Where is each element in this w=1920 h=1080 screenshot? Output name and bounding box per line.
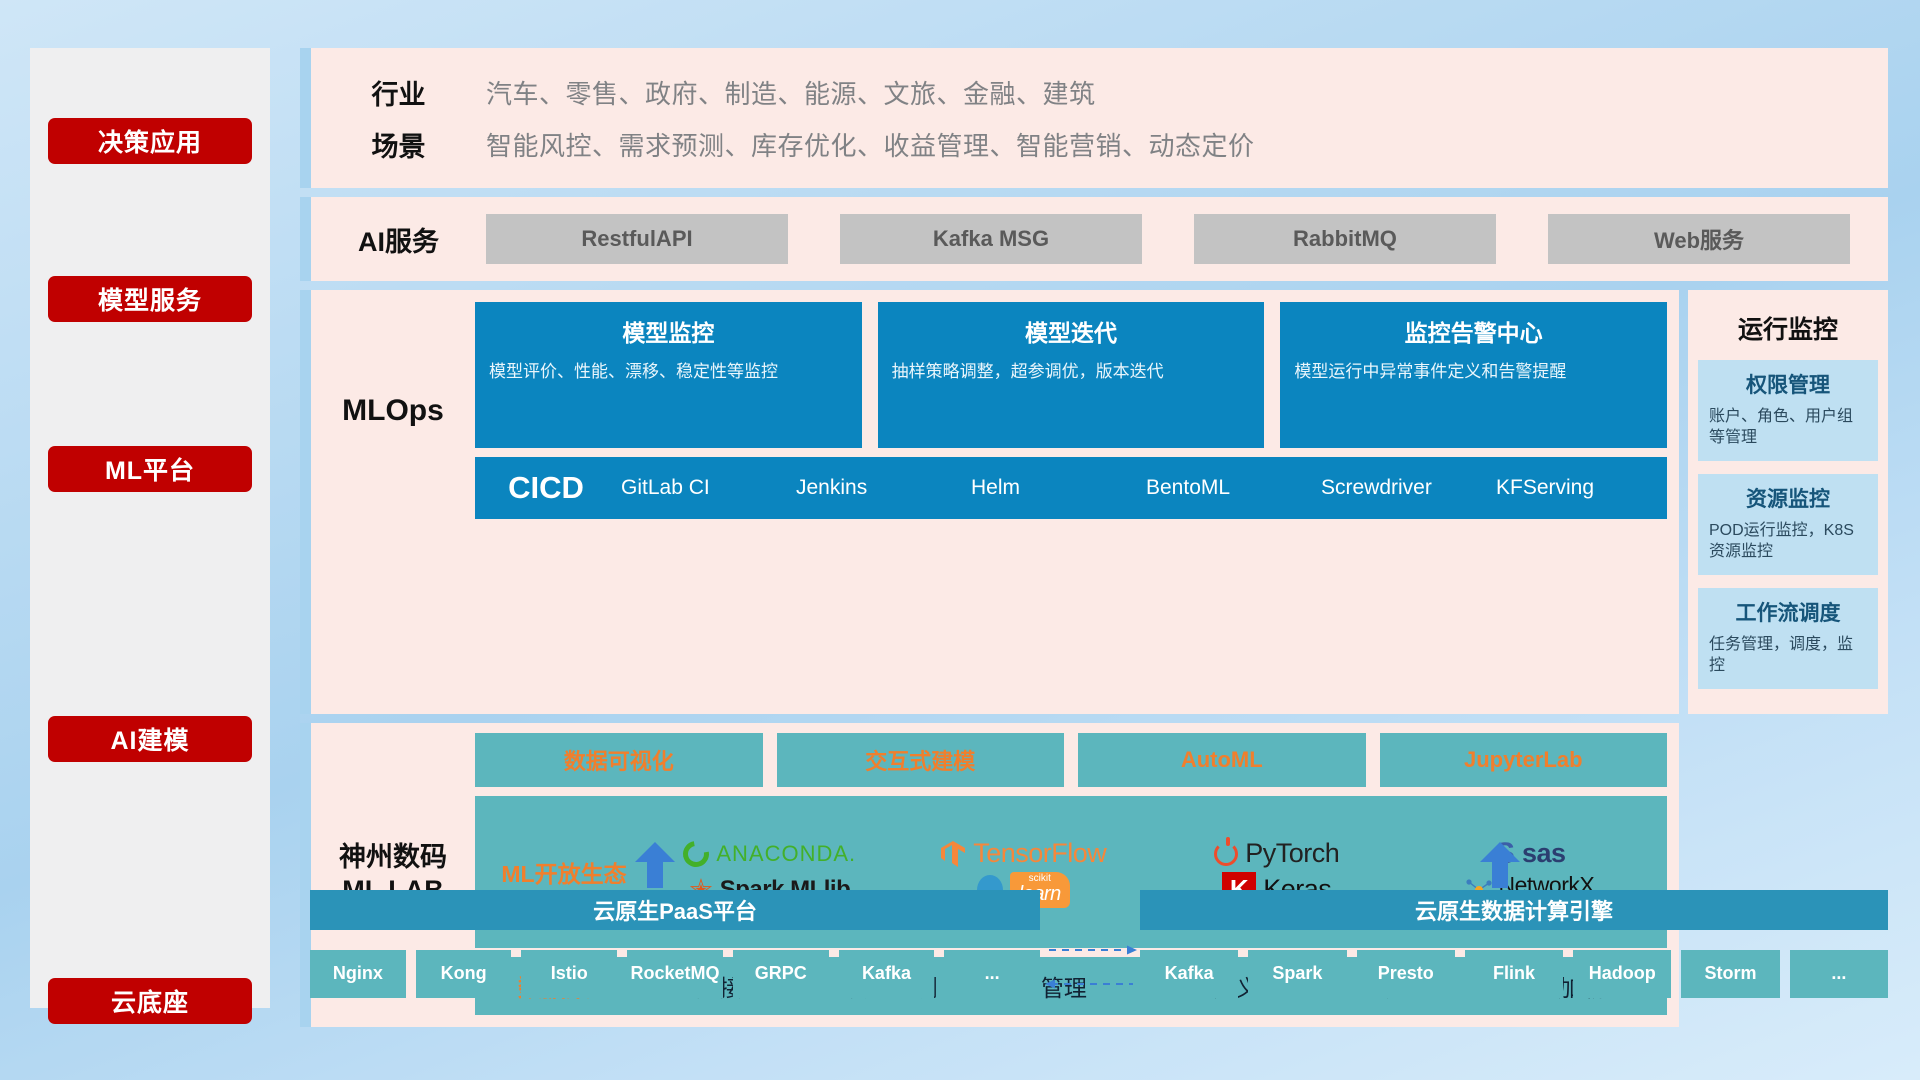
main-stack: 行业 汽车、零售、政府、制造、能源、文旅、金融、建筑 场景 智能风控、需求预测、…: [300, 48, 1888, 1027]
cicd-item-screwdriver[interactable]: Screwdriver: [1317, 475, 1492, 501]
tensorflow-label: TensorFlow: [973, 838, 1106, 869]
mlops-card-model-monitoring[interactable]: 模型监控 模型评价、性能、漂移、稳定性等监控: [475, 302, 862, 448]
scenario-row: 场景 智能风控、需求预测、库存优化、收益管理、智能营销、动态定价: [311, 118, 1888, 170]
cicd-item-bentoml[interactable]: BentoML: [1142, 475, 1317, 501]
engine-tag-flink[interactable]: Flink: [1465, 950, 1563, 998]
mlops-card-alert-center[interactable]: 监控告警中心 模型运行中异常事件定义和告警提醒: [1280, 302, 1667, 448]
paas-tag-istio[interactable]: Istio: [521, 950, 617, 998]
engine-tag-presto[interactable]: Presto: [1357, 950, 1455, 998]
chip-rabbitmq[interactable]: RabbitMQ: [1194, 214, 1496, 264]
monitor-card-workflow[interactable]: 工作流调度 任务管理，调度，监控: [1698, 588, 1878, 689]
card-desc: 模型评价、性能、漂移、稳定性等监控: [489, 360, 848, 383]
paas-tag-rocketmq[interactable]: RocketMQ: [627, 950, 723, 998]
card-title: 资源监控: [1709, 483, 1867, 513]
data-engine-tag-list: Kafka Spark Presto Flink Hadoop Storm ..…: [1140, 950, 1888, 998]
data-engine-title: 云原生数据计算引擎: [1140, 890, 1888, 930]
ai-service-label: AI服务: [311, 220, 486, 259]
card-title: 监控告警中心: [1294, 314, 1653, 348]
tensorflow-mark-icon: [940, 840, 966, 868]
rail-badge-ai-modeling[interactable]: AI建模: [48, 716, 252, 762]
rail-badge-model-service[interactable]: 模型服务: [48, 276, 252, 322]
chip-web-service[interactable]: Web服务: [1548, 214, 1850, 264]
card-desc: 任务管理，调度，监控: [1709, 634, 1867, 677]
anaconda-label: ANACONDA.: [716, 841, 856, 867]
industry-value: 汽车、零售、政府、制造、能源、文旅、金融、建筑: [486, 74, 1096, 111]
paas-tag-list: Nginx Kong Istio RocketMQ GRPC Kafka ...: [310, 950, 1040, 998]
left-layer-rail: 决策应用 模型服务 ML平台 AI建模 云底座: [30, 48, 270, 1008]
monitor-rail: 运行监控 权限管理 账户、角色、用户组等管理 资源监控 POD运行监控，K8S资…: [1688, 290, 1888, 714]
monitor-card-permission[interactable]: 权限管理 账户、角色、用户组等管理: [1698, 360, 1878, 461]
tab-automl[interactable]: AutoML: [1078, 733, 1366, 787]
engine-tag-kafka[interactable]: Kafka: [1140, 950, 1238, 998]
pytorch-logo: PyTorch: [1214, 838, 1339, 869]
paas-column: 云原生PaaS平台 Nginx Kong Istio RocketMQ GRPC…: [310, 890, 1040, 998]
engine-tag-more[interactable]: ...: [1790, 950, 1888, 998]
ml-ecosystem-label: ML开放生态: [485, 855, 643, 889]
sas-label: sas: [1522, 838, 1566, 869]
anaconda-logo: ANACONDA.: [683, 841, 856, 867]
scenario-label: 场景: [311, 125, 486, 164]
anaconda-ring-icon: [678, 836, 714, 872]
cicd-item-jenkins[interactable]: Jenkins: [792, 475, 967, 501]
tab-interactive-modeling[interactable]: 交互式建模: [777, 733, 1065, 787]
cloud-base-section: 云原生PaaS平台 Nginx Kong Istio RocketMQ GRPC…: [300, 890, 1888, 1030]
rail-badge-cloud-base[interactable]: 云底座: [48, 978, 252, 1024]
engine-tag-hadoop[interactable]: Hadoop: [1573, 950, 1671, 998]
mllab-label-line1: 神州数码: [339, 841, 447, 874]
paas-tag-kafka[interactable]: Kafka: [839, 950, 935, 998]
paas-tag-kong[interactable]: Kong: [416, 950, 512, 998]
chip-kafka-msg[interactable]: Kafka MSG: [840, 214, 1142, 264]
tab-jupyterlab[interactable]: JupyterLab: [1380, 733, 1668, 787]
card-title: 模型迭代: [892, 314, 1251, 348]
cicd-item-helm[interactable]: Helm: [967, 475, 1142, 501]
engine-tag-spark[interactable]: Spark: [1248, 950, 1346, 998]
card-desc: 抽样策略调整，超参调优，版本迭代: [892, 360, 1251, 383]
cicd-item-gitlab-ci[interactable]: GitLab CI: [617, 475, 792, 501]
pytorch-flame-icon: [1214, 842, 1238, 866]
diagram-canvas: 决策应用 模型服务 ML平台 AI建模 云底座 行业 汽车、零售、政府、制造、能…: [0, 0, 1920, 1080]
mlops-label: MLOps: [311, 302, 475, 519]
engine-up-arrow-icon: [1480, 842, 1520, 888]
application-band: 行业 汽车、零售、政府、制造、能源、文旅、金融、建筑 场景 智能风控、需求预测、…: [300, 48, 1888, 188]
card-title: 工作流调度: [1709, 597, 1867, 627]
paas-title: 云原生PaaS平台: [310, 890, 1040, 930]
tab-data-visualization[interactable]: 数据可视化: [475, 733, 763, 787]
mlops-row: MLOps 模型监控 模型评价、性能、漂移、稳定性等监控 模型迭代 抽样策略调整…: [300, 290, 1888, 714]
mlops-card-list: 模型监控 模型评价、性能、漂移、稳定性等监控 模型迭代 抽样策略调整，超参调优，…: [475, 302, 1667, 448]
industry-row: 行业 汽车、零售、政府、制造、能源、文旅、金融、建筑: [311, 66, 1888, 118]
paas-tag-grpc[interactable]: GRPC: [733, 950, 829, 998]
paas-tag-more[interactable]: ...: [944, 950, 1040, 998]
mllab-tab-list: 数据可视化 交互式建模 AutoML JupyterLab: [475, 733, 1667, 787]
card-title: 权限管理: [1709, 369, 1867, 399]
ai-service-chip-list: RestfulAPI Kafka MSG RabbitMQ Web服务: [486, 214, 1888, 264]
paas-up-arrow-icon: [635, 842, 675, 888]
card-desc: 账户、角色、用户组等管理: [1709, 406, 1867, 449]
chip-restfulapi[interactable]: RestfulAPI: [486, 214, 788, 264]
bidirectional-dashed-connector: [1045, 942, 1137, 994]
scenario-value: 智能风控、需求预测、库存优化、收益管理、智能营销、动态定价: [486, 126, 1255, 163]
cicd-item-list: GitLab CI Jenkins Helm BentoML Screwdriv…: [617, 475, 1667, 501]
mlops-card-model-iteration[interactable]: 模型迭代 抽样策略调整，超参调优，版本迭代: [878, 302, 1265, 448]
pytorch-label: PyTorch: [1245, 838, 1339, 869]
monitor-rail-title: 运行监控: [1698, 310, 1878, 346]
rail-badge-decision-app[interactable]: 决策应用: [48, 118, 252, 164]
tensorflow-logo: TensorFlow: [940, 838, 1106, 869]
industry-label: 行业: [311, 73, 486, 112]
card-desc: 模型运行中异常事件定义和告警提醒: [1294, 360, 1653, 383]
card-desc: POD运行监控，K8S资源监控: [1709, 520, 1867, 563]
monitor-card-resource[interactable]: 资源监控 POD运行监控，K8S资源监控: [1698, 474, 1878, 575]
paas-tag-nginx[interactable]: Nginx: [310, 950, 406, 998]
cicd-bar: CICD GitLab CI Jenkins Helm BentoML Scre…: [475, 457, 1667, 519]
cicd-title: CICD: [475, 470, 617, 506]
mlops-band: MLOps 模型监控 模型评价、性能、漂移、稳定性等监控 模型迭代 抽样策略调整…: [300, 290, 1679, 714]
data-engine-column: 云原生数据计算引擎 Kafka Spark Presto Flink Hadoo…: [1140, 890, 1888, 998]
card-title: 模型监控: [489, 314, 848, 348]
cicd-item-kfserving[interactable]: KFServing: [1492, 475, 1667, 501]
rail-badge-ml-platform[interactable]: ML平台: [48, 446, 252, 492]
ai-service-band: AI服务 RestfulAPI Kafka MSG RabbitMQ Web服务: [300, 197, 1888, 281]
engine-tag-storm[interactable]: Storm: [1681, 950, 1779, 998]
